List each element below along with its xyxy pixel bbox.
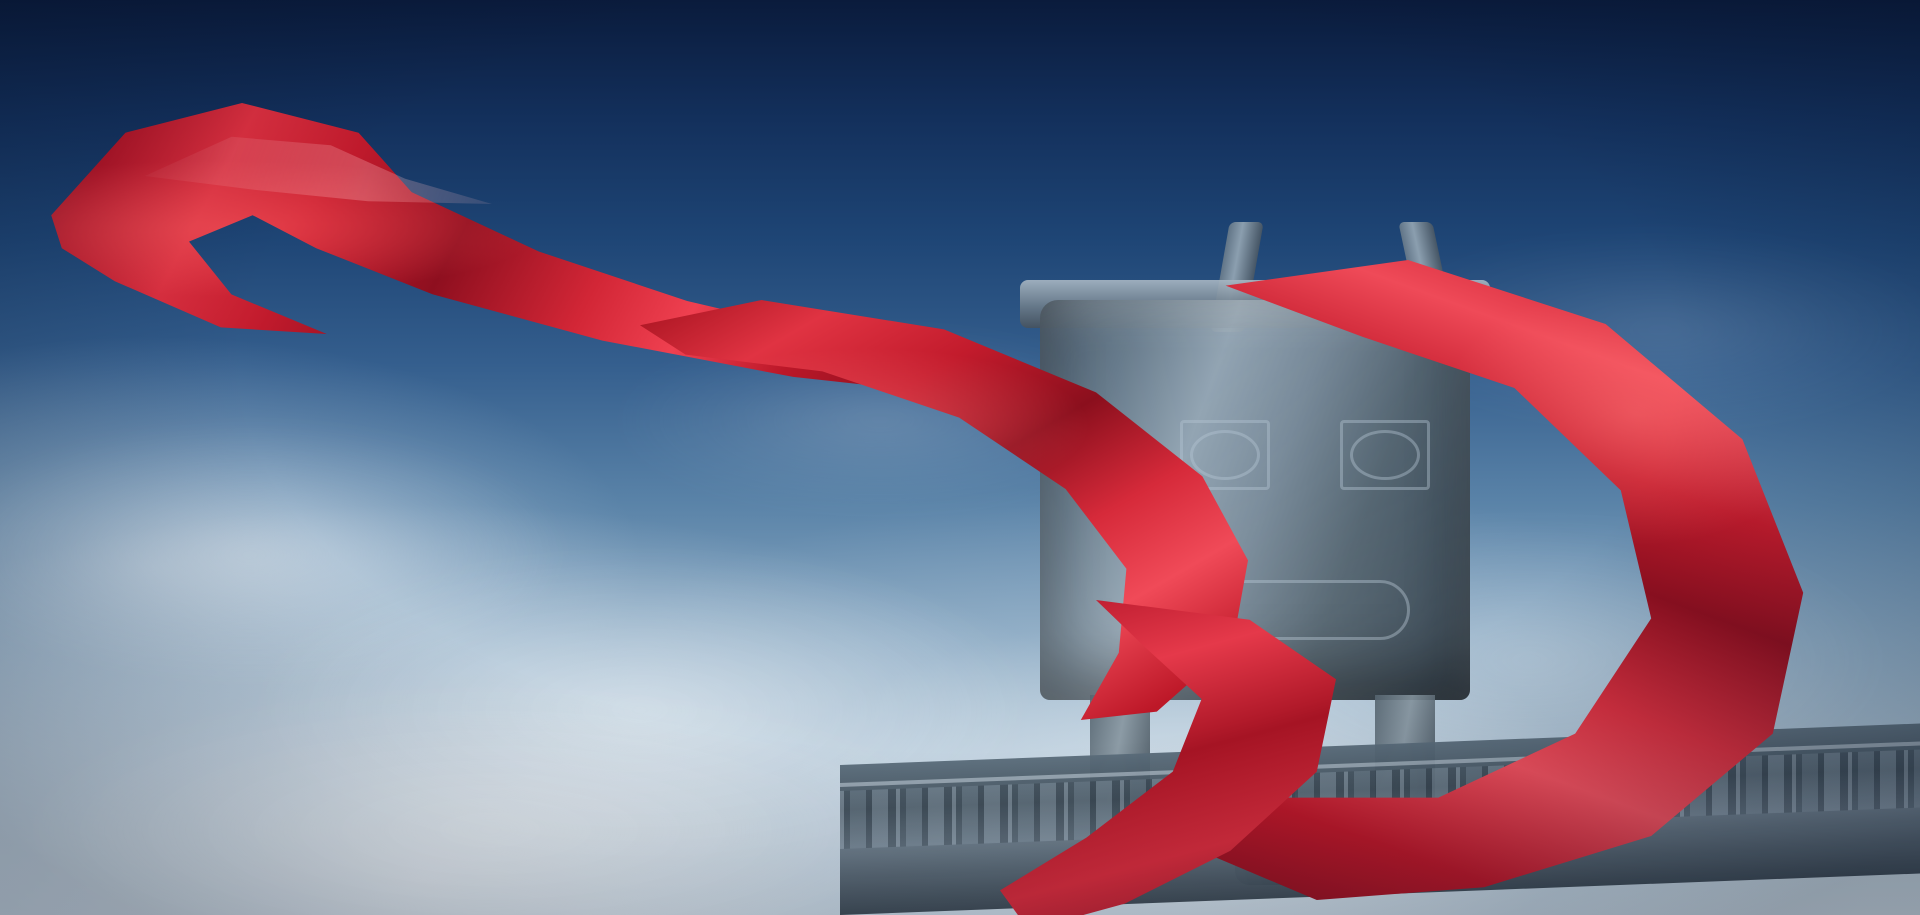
banner-headings <box>0 132 1920 154</box>
promotional-banner <box>0 0 1920 915</box>
awards-gallery <box>0 336 1920 636</box>
